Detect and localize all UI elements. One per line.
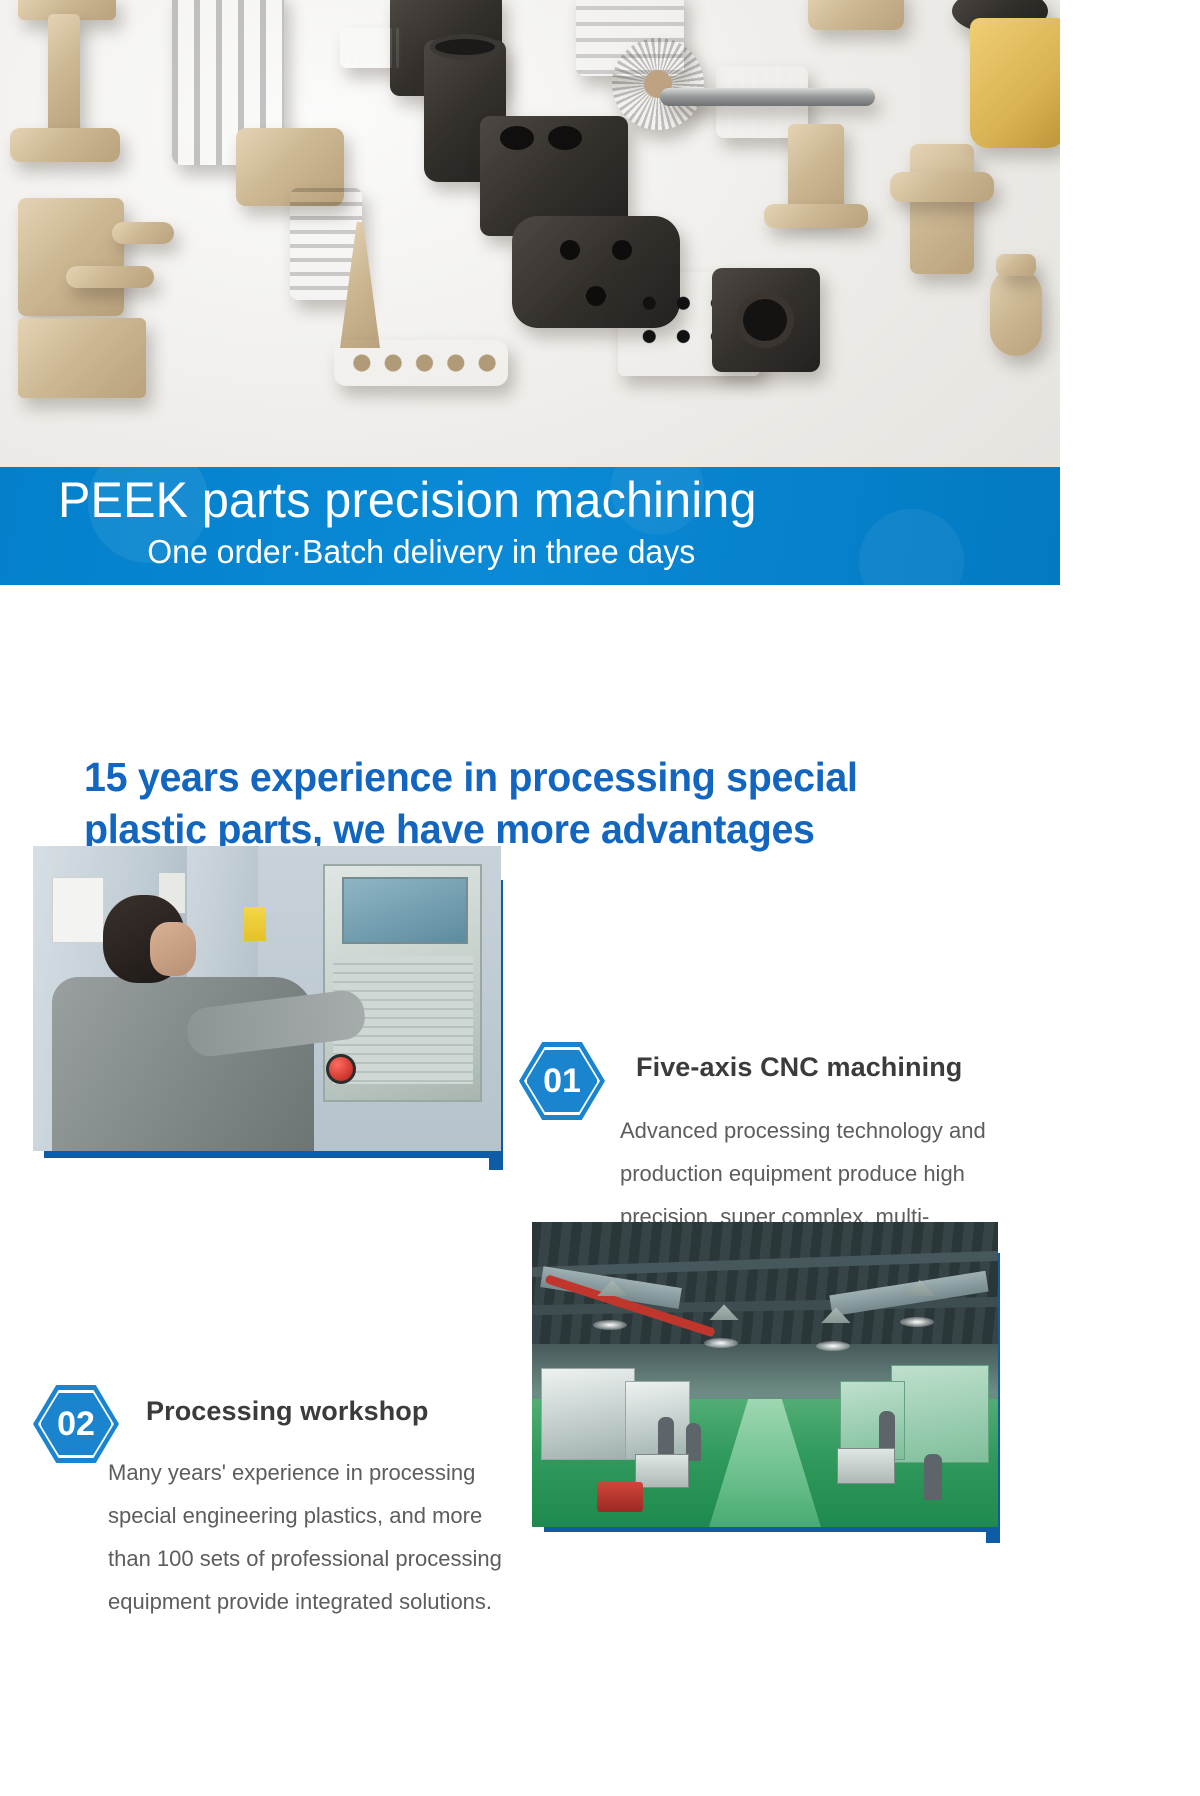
section-heading: 15 years experience in processing specia…: [84, 752, 1044, 855]
part-cross-fitting-nozzle: [66, 266, 154, 288]
part-small-stud: [990, 268, 1042, 356]
part-black-hub-bore: [736, 292, 794, 348]
part-black-manifold-port-a: [500, 126, 534, 150]
cnc-display-screen: [342, 877, 468, 944]
workshop-scene: [532, 1222, 998, 1527]
part-flange-ring-top: [808, 0, 904, 30]
banner-subtitle: One order·Batch delivery in three days: [58, 531, 1030, 574]
part-cross-fitting-spigot: [112, 222, 174, 244]
banner-title: PEEK parts precision machining: [58, 473, 1030, 527]
part-small-stud-cap: [996, 254, 1036, 276]
cnc-paper-sheet: [52, 877, 104, 943]
hero-product-photo: PEEK parts precision machining One order…: [0, 0, 1060, 585]
cnc-operator-face: [150, 922, 196, 976]
feature-01-photo: [33, 846, 501, 1151]
part-oval-cover-hole-3: [586, 286, 606, 306]
feature-01-badge: 01: [519, 1042, 605, 1120]
feature-02-number: 02: [33, 1385, 119, 1463]
part-oval-cover-hole-1: [560, 240, 580, 260]
cnc-machine-scene: [33, 846, 501, 1151]
part-oval-cover-hole-2: [612, 240, 632, 260]
workshop-cart-right: [837, 1448, 895, 1484]
part-steel-shaft: [660, 88, 875, 106]
part-spool-base: [10, 128, 120, 162]
part-flanged-bushing: [788, 124, 844, 216]
part-base-plate: [18, 318, 146, 398]
section-heading-line1: 15 years experience in processing specia…: [84, 752, 1044, 804]
workshop-machine-right-1: [891, 1365, 989, 1463]
workshop-lamp-glow-1: [593, 1320, 627, 1330]
workshop-lamp-glow-4: [900, 1317, 934, 1327]
feature-02-badge: 02: [33, 1385, 119, 1463]
part-spool-stem: [48, 14, 80, 134]
cnc-emergency-stop-button: [326, 1054, 356, 1084]
feature-02-title: Processing workshop: [146, 1396, 526, 1427]
feature-02-body: Many years' experience in processing spe…: [108, 1452, 508, 1624]
workshop-lamp-glow-2: [704, 1338, 738, 1348]
feature-01-number: 01: [519, 1042, 605, 1120]
workshop-worker-4: [924, 1454, 942, 1500]
hero-banner: PEEK parts precision machining One order…: [0, 467, 1060, 585]
workshop-red-cart: [597, 1482, 643, 1512]
part-black-manifold-port-b: [548, 126, 582, 150]
part-black-sleeve-bore: [430, 34, 500, 60]
part-drilled-arm: [334, 340, 508, 386]
feature-01-title: Five-axis CNC machining: [636, 1052, 1036, 1083]
part-stepped-bushing: [910, 144, 974, 274]
product-detail-page: PEEK parts precision machining One order…: [0, 0, 1200, 1796]
part-cross-fitting: [18, 198, 124, 316]
part-stepped-bushing-collar: [890, 172, 994, 202]
cnc-label-yellow: [244, 907, 266, 941]
part-threaded-nipple: [340, 28, 402, 68]
workshop-lamp-glow-3: [816, 1341, 850, 1351]
feature-02-photo: [532, 1222, 998, 1527]
part-flanged-bushing-flange: [764, 204, 868, 228]
part-amber-cup: [970, 18, 1060, 148]
workshop-machine-left-1: [541, 1368, 634, 1460]
